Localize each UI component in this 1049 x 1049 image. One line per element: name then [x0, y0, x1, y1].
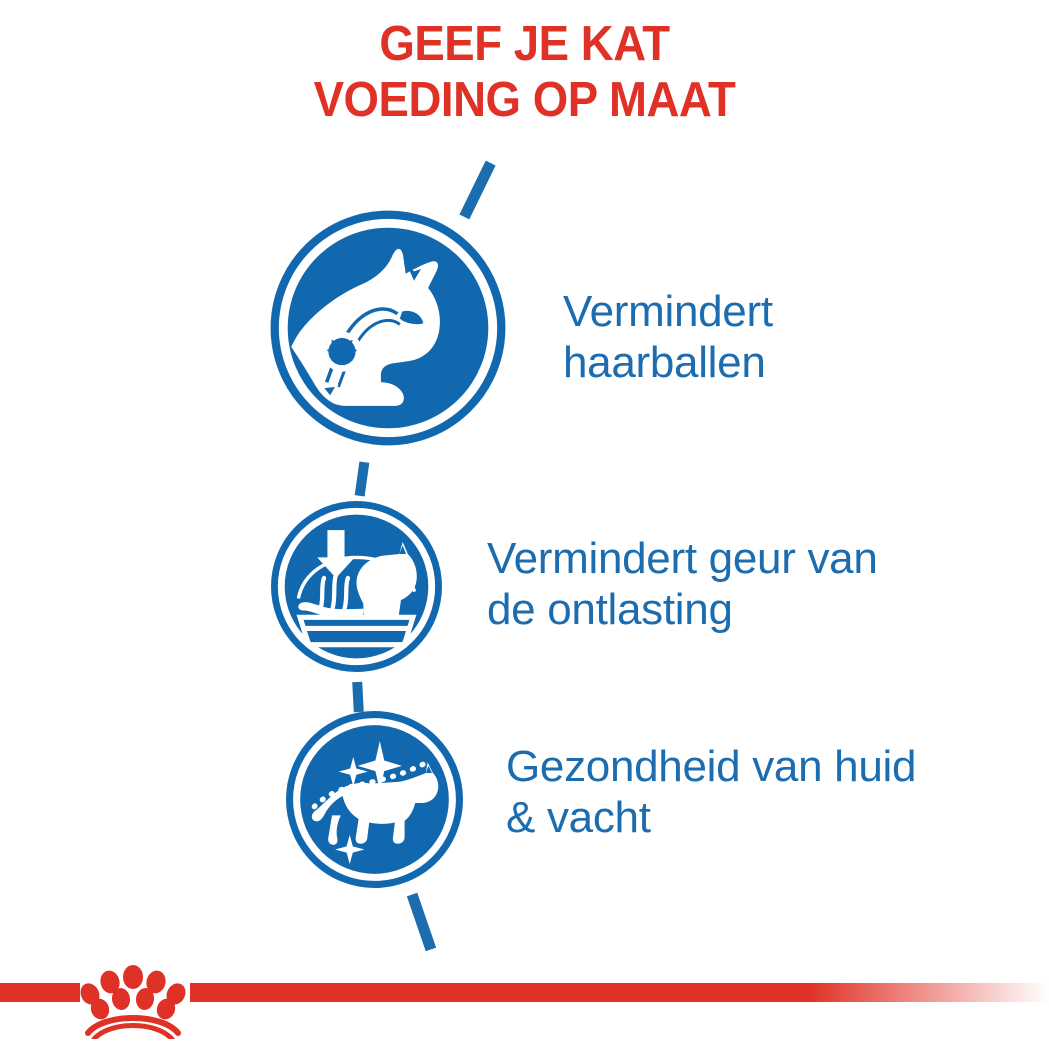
benefit-3-text: Gezondheid van huid & vacht	[506, 741, 916, 843]
footer	[0, 939, 1049, 1049]
benefit-1-text: Vermindert haarballen	[563, 286, 773, 388]
cat-skin-coat-sparkle-icon	[286, 711, 463, 888]
benefit-2-line-2: de ontlasting	[487, 584, 878, 635]
royal-canin-crown-logo	[74, 949, 194, 1039]
page-title: GEEF JE KAT VOEDING OP MAAT	[37, 16, 1013, 128]
benefit-2-text: Vermindert geur van de ontlasting	[487, 533, 878, 635]
benefit-3-line-1: Gezondheid van huid	[506, 741, 916, 792]
benefit-1-line-1: Vermindert	[563, 286, 773, 337]
title-line-2: VOEDING OP MAAT	[37, 72, 1013, 128]
title-line-1: GEEF JE KAT	[37, 16, 1013, 72]
footer-bar-left	[0, 983, 80, 1002]
benefit-1-line-2: haarballen	[563, 337, 773, 388]
cat-litter-box-odour-icon	[271, 501, 442, 672]
cat-hairball-icon	[270, 210, 506, 446]
benefit-3-line-2: & vacht	[506, 792, 916, 843]
connector-dash-between-2-3	[352, 682, 364, 712]
benefit-2-line-1: Vermindert geur van	[487, 533, 878, 584]
footer-bar-right	[190, 983, 1049, 1002]
infographic-page: GEEF JE KAT VOEDING OP MAAT	[0, 0, 1049, 1049]
connector-dash-between-1-2	[355, 461, 370, 496]
